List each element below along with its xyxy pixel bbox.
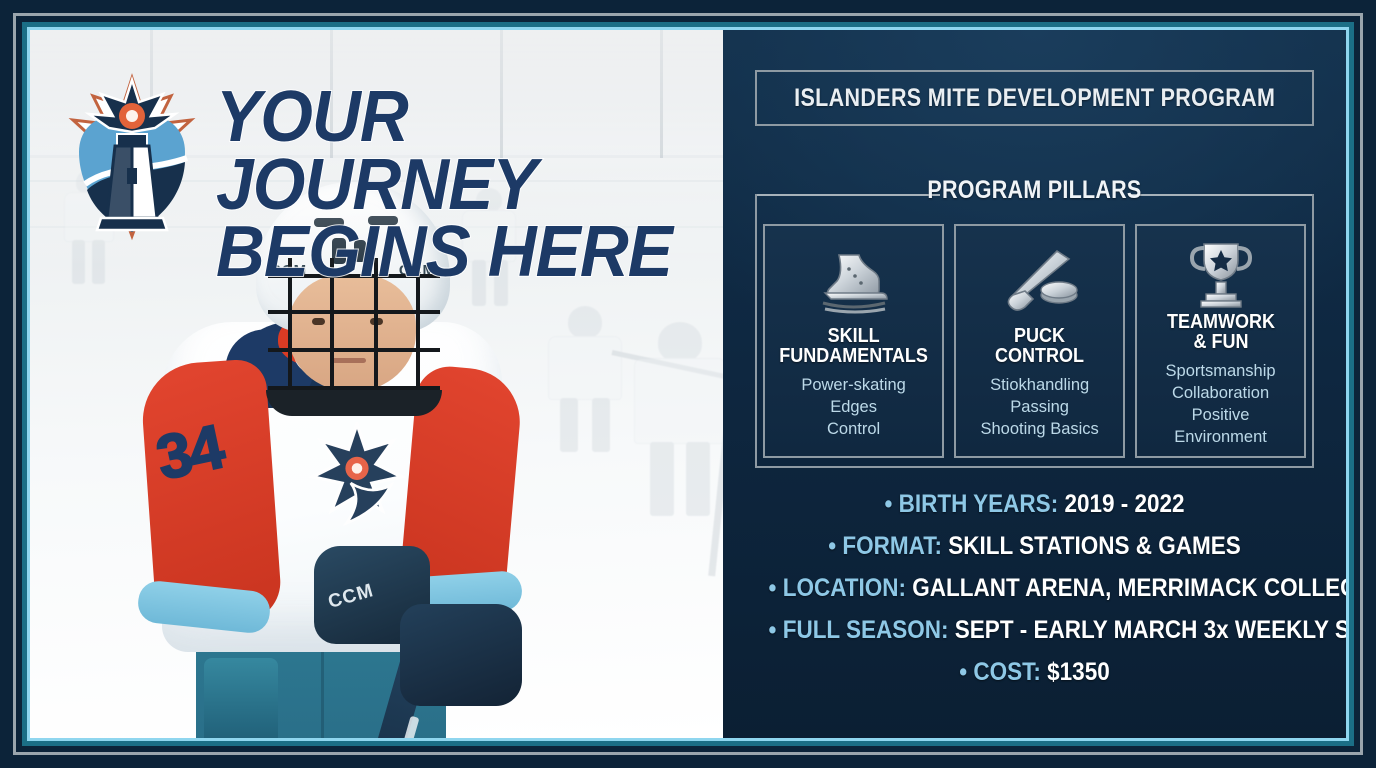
detail-label: FORMAT: bbox=[842, 532, 942, 560]
background-skater bbox=[628, 322, 723, 528]
card-item: Positive Environment bbox=[1143, 404, 1298, 448]
jersey-number: 34 bbox=[150, 411, 228, 494]
detail-line-location: • LOCATION: GALLANT ARENA, MERRIMACK COL… bbox=[769, 576, 1301, 601]
islanders-lighthouse-logo-icon bbox=[67, 72, 197, 242]
detail-value: $1350 bbox=[1047, 658, 1110, 686]
headline-line-1: YOUR JOURNEY bbox=[216, 84, 686, 219]
detail-line-format: • FORMAT: SKILL STATIONS & GAMES bbox=[769, 534, 1301, 559]
hockey-stick-puck-icon bbox=[999, 240, 1081, 324]
info-panel: ISLANDERS MITE DEVELOPMENT PROGRAM PROGR… bbox=[723, 30, 1346, 738]
program-title: ISLANDERS MITE DEVELOPMENT PROGRAM bbox=[794, 84, 1275, 113]
headline-line-2: BEGINS HERE bbox=[216, 219, 686, 287]
player-sock bbox=[204, 658, 278, 738]
card-item: Stiokhandling bbox=[980, 374, 1098, 396]
card-item: Shooting Basics bbox=[980, 418, 1098, 440]
promo-poster: 34 bbox=[0, 0, 1376, 768]
card-heading-line2: & FUN bbox=[1193, 331, 1248, 353]
card-heading-line1: PUCK bbox=[1014, 325, 1065, 347]
card-item: Edges bbox=[801, 396, 906, 418]
detail-line-birth-years: • BIRTH YEARS: 2019 - 2022 bbox=[769, 492, 1301, 517]
detail-label: COST: bbox=[973, 658, 1040, 686]
detail-value: GALLANT ARENA, MERRIMACK COLLEGE bbox=[912, 574, 1346, 602]
detail-value: SEPT - EARLY MARCH 3x WEEKLY SKATES bbox=[955, 616, 1346, 644]
card-item: Sportsmanship bbox=[1143, 360, 1298, 382]
trophy-icon bbox=[1186, 240, 1256, 310]
detail-bullet: • bbox=[769, 616, 777, 644]
card-item: Collaboration bbox=[1143, 382, 1298, 404]
card-item: Control bbox=[801, 418, 906, 440]
card-heading-line2: CONTROL bbox=[995, 345, 1084, 367]
card-item: Power-skating bbox=[801, 374, 906, 396]
card-heading-line1: SKILL bbox=[828, 325, 880, 347]
detail-bullet: • bbox=[828, 532, 836, 560]
hero-photo: 34 bbox=[30, 30, 723, 738]
detail-label: BIRTH YEARS: bbox=[899, 490, 1059, 518]
pillar-card-teamwork-fun[interactable]: TEAMWORK & FUN Sportsmanship Collaborati… bbox=[1135, 224, 1306, 458]
program-details: • BIRTH YEARS: 2019 - 2022 • FORMAT: SKI… bbox=[739, 492, 1330, 702]
pillars-title-wrap: PROGRAM PILLARS bbox=[755, 176, 1314, 205]
poster-content: 34 bbox=[30, 30, 1346, 738]
detail-line-full-season: • FULL SEASON: SEPT - EARLY MARCH 3x WEE… bbox=[769, 618, 1301, 643]
detail-label: FULL SEASON: bbox=[783, 616, 949, 644]
detail-bullet: • bbox=[959, 658, 967, 686]
pillar-card-puck-control[interactable]: PUCK CONTROL Stiokhandling Passing Shoot… bbox=[954, 224, 1125, 458]
helmet-chin-guard bbox=[266, 390, 442, 416]
detail-line-cost: • COST: $1350 bbox=[769, 660, 1301, 685]
card-item: Passing bbox=[980, 396, 1098, 418]
detail-bullet: • bbox=[884, 490, 892, 518]
detail-bullet: • bbox=[769, 574, 777, 602]
card-heading-line2: FUNDAMENTALS bbox=[779, 345, 928, 367]
glove-brand: CCM bbox=[326, 580, 377, 614]
detail-value: SKILL STATIONS & GAMES bbox=[948, 532, 1241, 560]
pillar-card-skill-fundamentals[interactable]: SKILL FUNDAMENTALS Power-skating Edges C… bbox=[763, 224, 944, 458]
player-glove-right bbox=[400, 604, 522, 706]
hero-headline: YOUR JOURNEY BEGINS HERE bbox=[216, 84, 716, 287]
program-title-box: ISLANDERS MITE DEVELOPMENT PROGRAM bbox=[755, 70, 1314, 126]
pillar-cards: SKILL FUNDAMENTALS Power-skating Edges C… bbox=[763, 224, 1306, 458]
detail-label: LOCATION: bbox=[783, 574, 906, 602]
card-heading-line1: TEAMWORK bbox=[1167, 311, 1275, 333]
jersey-crest-icon bbox=[304, 422, 410, 540]
pillars-title: PROGRAM PILLARS bbox=[915, 176, 1153, 205]
program-pillars-section: PROGRAM PILLARS bbox=[755, 170, 1314, 468]
detail-value: 2019 - 2022 bbox=[1064, 490, 1184, 518]
ice-skate-icon bbox=[815, 240, 893, 324]
